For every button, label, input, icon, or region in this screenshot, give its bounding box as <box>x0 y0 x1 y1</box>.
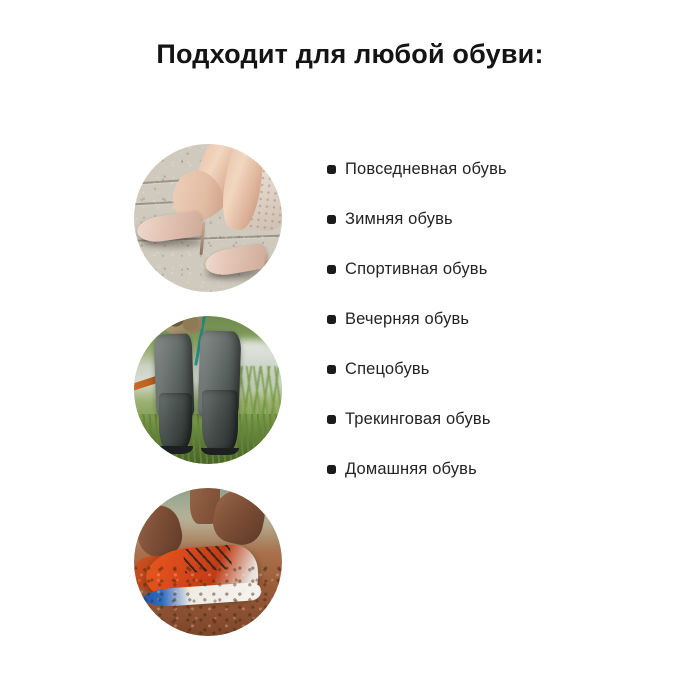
page-title: Подходит для любой обуви: <box>0 38 700 70</box>
bullet-icon <box>327 165 336 174</box>
photo-high-heels-image <box>134 144 282 292</box>
list-item-label: Зимняя обувь <box>345 211 453 228</box>
list-item: Зимняя обувь <box>327 194 667 244</box>
photo-running-sneakers <box>134 488 282 636</box>
photo-high-heels <box>134 144 282 292</box>
list-item-label: Спецобувь <box>345 361 430 378</box>
list-item: Вечерняя обувь <box>327 294 667 344</box>
list-item: Домашняя обувь <box>327 444 667 494</box>
photo-running-sneakers-image <box>134 488 282 636</box>
list-item-label: Спортивная обувь <box>345 261 487 278</box>
photo-column <box>134 144 282 644</box>
bullet-icon <box>327 415 336 424</box>
list-item-label: Вечерняя обувь <box>345 311 469 328</box>
photo-rubber-boots-image <box>134 316 282 464</box>
list-item-label: Домашняя обувь <box>345 461 477 478</box>
list-item: Спортивная обувь <box>327 244 667 294</box>
list-item-label: Трекинговая обувь <box>345 411 491 428</box>
camo-jacket <box>164 316 202 334</box>
bullet-icon <box>327 215 336 224</box>
list-item: Спецобувь <box>327 344 667 394</box>
photo-rubber-boots <box>134 316 282 464</box>
list-item: Трекинговая обувь <box>327 394 667 444</box>
boot-sole <box>158 446 194 453</box>
boot-sole <box>201 448 239 455</box>
list-item: Повседневная обувь <box>327 144 667 194</box>
promo-page: Подходит для любой обуви: <box>0 0 700 700</box>
shoe-type-list: Повседневная обувь Зимняя обувь Спортивн… <box>327 144 667 494</box>
rubber-boot-left <box>159 393 192 449</box>
bullet-icon <box>327 265 336 274</box>
rubber-boot-right <box>202 390 238 451</box>
clay-texture <box>134 565 282 636</box>
bullet-icon <box>327 365 336 374</box>
list-item-label: Повседневная обувь <box>345 161 507 178</box>
content-area: Повседневная обувь Зимняя обувь Спортивн… <box>0 144 700 644</box>
bullet-icon <box>327 465 336 474</box>
bullet-icon <box>327 315 336 324</box>
